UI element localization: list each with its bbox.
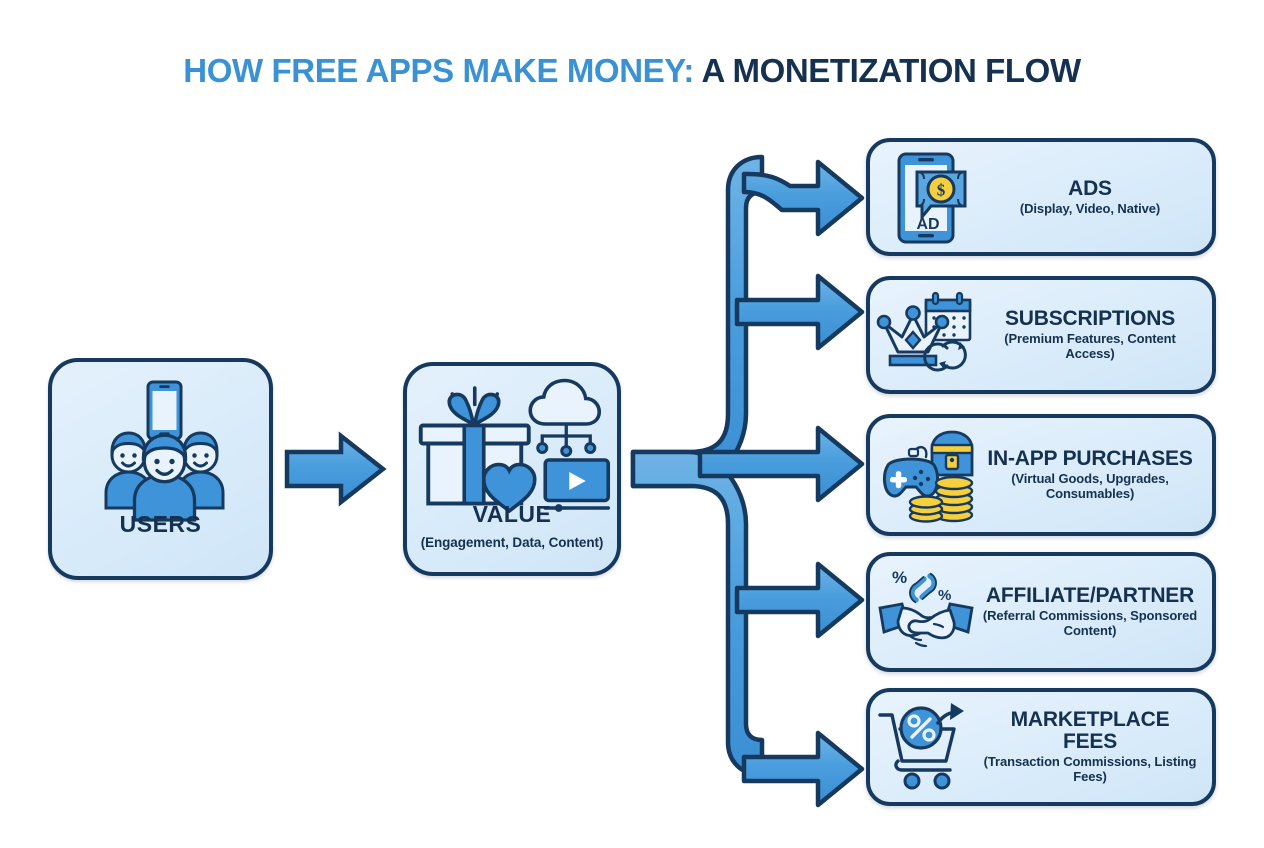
card-text-slot: MARKETPLACE FEES (Transaction Commission… — [982, 709, 1212, 785]
card-icon-slot — [870, 701, 982, 793]
flow-node-users-label: USERS — [52, 511, 269, 538]
monetization-card-ads[interactable]: $ AD ADS (Display, Video, Native) — [866, 138, 1216, 256]
card-subtitle: (Premium Features, Content Access) — [982, 332, 1198, 362]
card-title: AFFILIATE/PARTNER — [982, 585, 1198, 607]
flow-node-value-sublabel: (Engagement, Data, Content) — [407, 535, 617, 550]
value-to-outputs-splitter-arrow — [633, 157, 862, 805]
monetization-card-marketplace-fees[interactable]: MARKETPLACE FEES (Transaction Commission… — [866, 688, 1216, 806]
gamepad-chest-coins-icon — [874, 427, 978, 523]
flow-node-users[interactable]: USERS — [48, 358, 273, 580]
card-title: IN-APP PURCHASES — [982, 448, 1198, 470]
card-text-slot: IN-APP PURCHASES (Virtual Goods, Upgrade… — [982, 448, 1212, 502]
cart-percent-arrow-icon — [876, 701, 976, 793]
flow-node-value-label: VALUE — [407, 501, 617, 528]
phone-ad-money-icon: $ AD — [883, 149, 969, 245]
card-title: MARKETPLACE FEES — [982, 709, 1198, 753]
card-text-slot: ADS (Display, Video, Native) — [982, 178, 1212, 217]
page-title-highlight: HOW FREE APPS MAKE MONEY: — [183, 52, 694, 89]
svg-text:$: $ — [937, 181, 946, 200]
card-icon-slot — [870, 290, 982, 380]
handshake-chain-percent-icon: % % — [876, 566, 976, 658]
card-text-slot: AFFILIATE/PARTNER (Referral Commissions,… — [982, 585, 1212, 639]
flow-node-value[interactable]: VALUE (Engagement, Data, Content) — [403, 362, 621, 576]
card-title: ADS — [982, 178, 1198, 200]
card-title: SUBSCRIPTIONS — [982, 308, 1198, 330]
page-title: HOW FREE APPS MAKE MONEY: A MONETIZATION… — [0, 52, 1264, 90]
ad-label-text: AD — [916, 216, 939, 233]
users-group-with-phone-icon — [52, 376, 277, 526]
infographic-canvas: HOW FREE APPS MAKE MONEY: A MONETIZATION… — [0, 0, 1264, 848]
crown-calendar-renew-icon — [876, 290, 976, 380]
card-icon-slot: % % — [870, 566, 982, 658]
card-subtitle: (Virtual Goods, Upgrades, Consumables) — [982, 472, 1198, 502]
monetization-card-affiliate-partner[interactable]: % % — [866, 552, 1216, 672]
card-icon-slot: $ AD — [870, 149, 982, 245]
card-subtitle: (Referral Commissions, Sponsored Content… — [982, 609, 1198, 639]
svg-text:%: % — [892, 568, 907, 587]
monetization-card-in-app-purchases[interactable]: IN-APP PURCHASES (Virtual Goods, Upgrade… — [866, 414, 1216, 536]
monetization-card-subscriptions[interactable]: SUBSCRIPTIONS (Premium Features, Content… — [866, 276, 1216, 394]
card-icon-slot — [870, 427, 982, 523]
users-to-value-arrow — [287, 436, 383, 502]
page-title-rest: A MONETIZATION FLOW — [694, 52, 1081, 89]
card-subtitle: (Transaction Commissions, Listing Fees) — [982, 755, 1198, 785]
svg-text:%: % — [938, 587, 951, 604]
card-text-slot: SUBSCRIPTIONS (Premium Features, Content… — [982, 308, 1212, 362]
card-subtitle: (Display, Video, Native) — [982, 202, 1198, 217]
